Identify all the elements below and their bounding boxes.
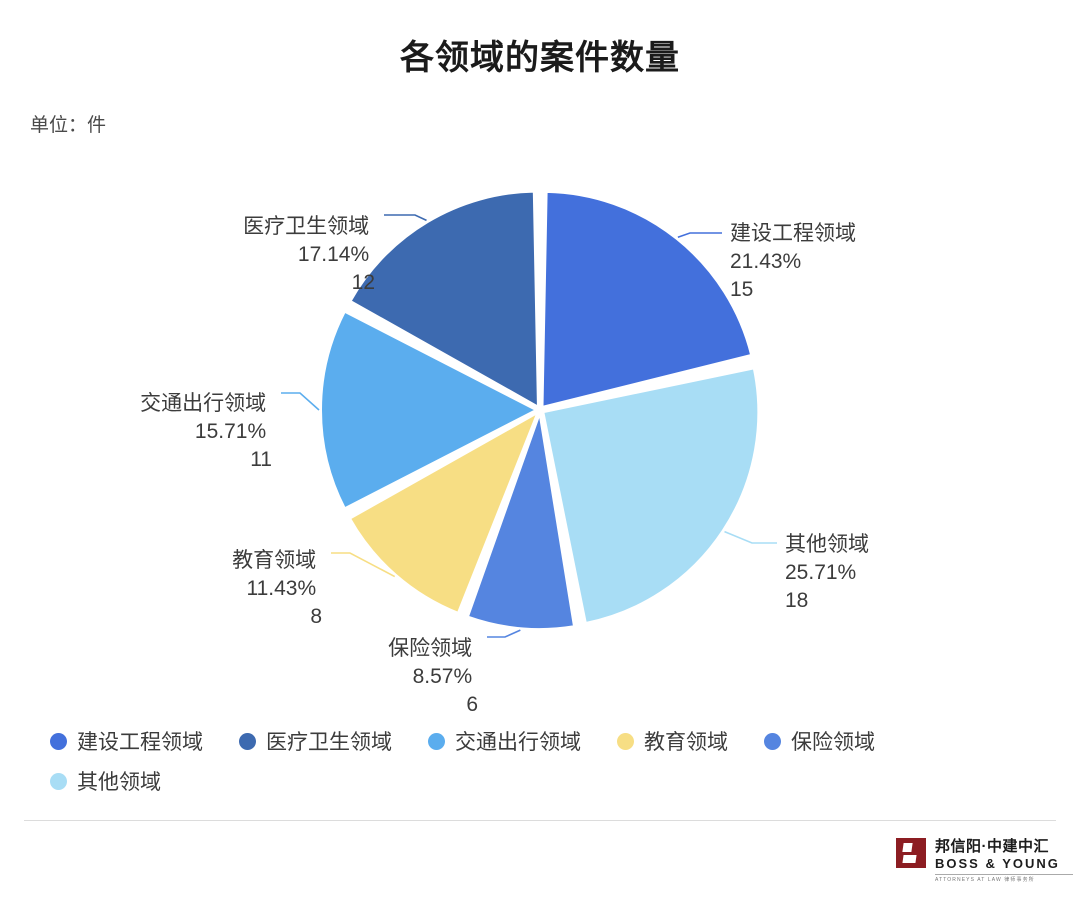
logo-rule [935,874,1073,875]
legend-color-swatch-icon [50,733,67,750]
leader-line [281,393,319,410]
callout-other: 其他领域 25.71% 18 [785,533,875,612]
legend-item-label: 交通出行领域 [455,726,581,756]
callout-education: 教育领域 11.43% 8 [232,549,322,628]
pie-slice[interactable] [543,368,758,623]
legend-item-label: 保险领域 [791,726,875,756]
legend-color-swatch-icon [764,733,781,750]
logo-english-name: BOSS & YOUNG [935,856,1073,871]
chart-legend: 建设工程领域医疗卫生领域交通出行领域教育领域保险领域其他领域 [50,726,1040,796]
legend-color-swatch-icon [239,733,256,750]
logo-subtitle: ATTORNEYS AT LAW 律师事务所 [935,877,1073,884]
legend-item[interactable]: 保险领域 [764,726,875,756]
legend-item[interactable]: 医疗卫生领域 [239,726,392,756]
pie-slice-group [321,192,758,629]
leader-line [487,630,520,637]
legend-color-swatch-icon [617,733,634,750]
legend-item-label: 其他领域 [77,766,161,796]
footer-divider [24,820,1056,821]
leader-line [678,233,722,237]
legend-item-label: 医疗卫生领域 [266,726,392,756]
legend-color-swatch-icon [50,773,67,790]
legend-color-swatch-icon [428,733,445,750]
logo-chinese-name: 邦信阳·中建中汇 [935,838,1073,855]
legend-item[interactable]: 建设工程领域 [50,726,203,756]
page-title: 各领域的案件数量 [0,30,1080,79]
callout-construction: 建设工程领域 21.43% 15 [730,222,862,301]
pie-chart-svg: 建设工程领域 21.43% 15 医疗卫生领域 17.14% 12 交通出行领域… [0,155,1080,715]
leader-line [725,532,777,543]
pie-chart: 建设工程领域 21.43% 15 医疗卫生领域 17.14% 12 交通出行领域… [0,155,1080,715]
legend-item[interactable]: 交通出行领域 [428,726,581,756]
legend-item-label: 教育领域 [644,726,728,756]
legend-item[interactable]: 教育领域 [617,726,728,756]
callout-transport: 交通出行领域 15.71% 11 [140,392,272,471]
logo-text: 邦信阳·中建中汇 BOSS & YOUNG ATTORNEYS AT LAW 律… [935,838,1073,884]
legend-item[interactable]: 其他领域 [50,766,161,796]
logo-mark-icon [896,838,926,868]
callout-insurance: 保险领域 8.57% 6 [388,637,478,715]
leader-line [384,215,427,220]
company-logo: 邦信阳·中建中汇 BOSS & YOUNG ATTORNEYS AT LAW 律… [896,838,1073,884]
callout-medical: 医疗卫生领域 17.14% 12 [243,215,375,294]
legend-item-label: 建设工程领域 [77,726,203,756]
unit-label: 单位：件 [30,110,106,137]
